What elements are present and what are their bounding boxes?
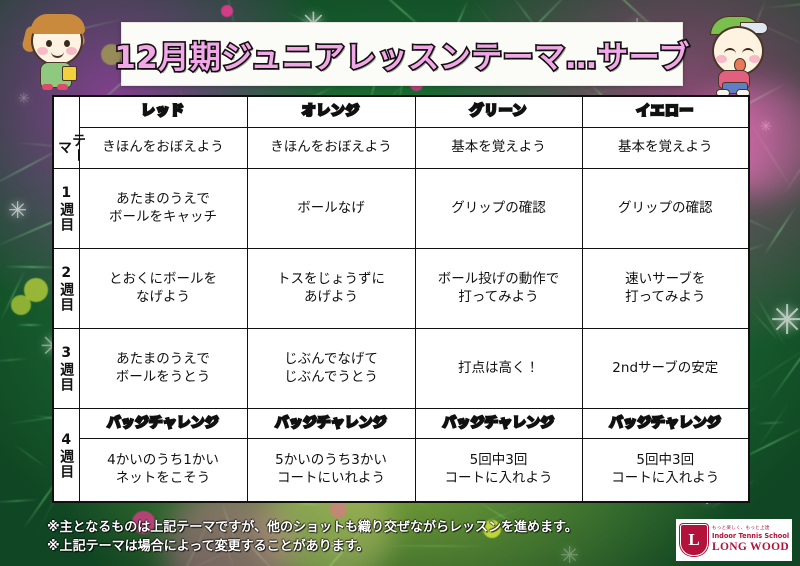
- footnote-2: ※上記テーマは場合によって変更することがあります。: [47, 538, 667, 557]
- cell-week1-yellow: グリップの確認: [582, 169, 749, 249]
- mascot-boy-cheek-right: [749, 55, 760, 63]
- cell-week2-orange: トスをじょうずにあげよう: [247, 249, 415, 329]
- cell-theme-red: きほんをおぼえよう: [79, 128, 247, 169]
- cell-week3-red: あたまのうえでボールをうとう: [79, 329, 247, 409]
- lesson-theme-table: レッド オレンジ グリーン イエロー テーマ きほんをおぼえよう きほんをおぼえ…: [52, 95, 750, 503]
- mascot-girl-eye-right: [64, 40, 70, 47]
- cell-week2-green: ボール投げの動作で打ってみよう: [415, 249, 582, 329]
- cell-week2-yellow: 速いサーブを打ってみよう: [582, 249, 749, 329]
- badge-challenge-red: バッジチャレンジ: [79, 409, 247, 439]
- table-row-week1: 1週目 あたまのうえでボールをキャッチ ボールなげ グリップの確認 グリップの確…: [53, 169, 749, 249]
- corner-cell: [53, 96, 79, 128]
- school-logo: L もっと楽しく、もっと上達 Indoor Tennis School LONG…: [676, 519, 792, 561]
- table-row-week4-badge: 4週目 バッジチャレンジ バッジチャレンジ バッジチャレンジ バッジチャレンジ: [53, 409, 749, 439]
- mascot-girl-gift: [62, 66, 77, 81]
- row-label-week1: 1週目: [53, 169, 79, 249]
- mascot-boy: [700, 10, 790, 92]
- cell-theme-yellow: 基本を覚えよう: [582, 128, 749, 169]
- cell-week4-yellow: 5回中3回コートに入れよう: [582, 439, 749, 503]
- cell-week1-orange: ボールなげ: [247, 169, 415, 249]
- table-row-week2: 2週目 とおくにボールをなげよう トスをじょうずにあげよう ボール投げの動作で打…: [53, 249, 749, 329]
- column-header-orange: オレンジ: [247, 96, 415, 128]
- table-row-theme: テーマ きほんをおぼえよう きほんをおぼえよう 基本を覚えよう 基本を覚えよう: [53, 128, 749, 169]
- cell-week3-green: 打点は高く！: [415, 329, 582, 409]
- logo-text-block: もっと楽しく、もっと上達 Indoor Tennis School LONG W…: [712, 527, 789, 553]
- badge-challenge-orange: バッジチャレンジ: [247, 409, 415, 439]
- shield-icon: L: [680, 524, 708, 556]
- cell-week4-orange: 5かいのうち3かいコートにいれよう: [247, 439, 415, 503]
- mascot-girl-mouth: [51, 49, 64, 58]
- row-label-week3: 3週目: [53, 329, 79, 409]
- footnote-1: ※主となるものは上記テーマですが、他のショットも織り交ぜながらレッスンを進めます…: [47, 519, 667, 538]
- mascot-girl-bangs: [31, 14, 85, 34]
- mascot-girl-cheek-left: [37, 47, 48, 55]
- mascot-girl-eye-left: [46, 40, 52, 47]
- logo-subtitle: Indoor Tennis School: [712, 533, 789, 540]
- cell-week3-orange: じぶんでなげてじぶんでうとう: [247, 329, 415, 409]
- table-row-week3: 3週目 あたまのうえでボールをうとう じぶんでなげてじぶんでうとう 打点は高く！…: [53, 329, 749, 409]
- column-header-red: レッド: [79, 96, 247, 128]
- row-label-week2: 2週目: [53, 249, 79, 329]
- footnotes: ※主となるものは上記テーマですが、他のショットも織り交ぜながらレッスンを進めます…: [47, 519, 667, 557]
- cell-week4-red: 4かいのうち1かいネットをこそう: [79, 439, 247, 503]
- page-title: 12月期ジュニアレッスンテーマ…サーブ: [114, 32, 690, 77]
- table-row-week4: 4かいのうち1かいネットをこそう 5かいのうち3かいコートにいれよう 5回中3回…: [53, 439, 749, 503]
- mascot-girl: [14, 8, 106, 92]
- mascot-girl-cheek-right: [66, 47, 77, 55]
- column-header-green: グリーン: [415, 96, 582, 128]
- badge-challenge-green: バッジチャレンジ: [415, 409, 582, 439]
- badge-challenge-yellow: バッジチャレンジ: [582, 409, 749, 439]
- cell-theme-orange: きほんをおぼえよう: [247, 128, 415, 169]
- table-header-row: レッド オレンジ グリーン イエロー: [53, 96, 749, 128]
- mascot-boy-eye-left: [724, 48, 736, 56]
- row-label-week4: 4週目: [53, 409, 79, 503]
- column-header-yellow: イエロー: [582, 96, 749, 128]
- row-label-theme: テーマ: [53, 128, 79, 169]
- mascot-girl-shoe-left: [42, 84, 53, 90]
- cell-week4-green: 5回中3回コートに入れよう: [415, 439, 582, 503]
- cell-week2-red: とおくにボールをなげよう: [79, 249, 247, 329]
- logo-name: LONG WOOD: [712, 541, 789, 553]
- cell-week3-yellow: 2ndサーブの安定: [582, 329, 749, 409]
- title-banner: 12月期ジュニアレッスンテーマ…サーブ: [121, 22, 683, 86]
- mascot-boy-cheek-left: [716, 55, 727, 63]
- cell-theme-green: 基本を覚えよう: [415, 128, 582, 169]
- mascot-girl-head: [31, 16, 83, 66]
- mascot-boy-head: [712, 26, 764, 76]
- cell-week1-red: あたまのうえでボールをキャッチ: [79, 169, 247, 249]
- cell-week1-green: グリップの確認: [415, 169, 582, 249]
- mascot-girl-shoe-right: [57, 84, 68, 90]
